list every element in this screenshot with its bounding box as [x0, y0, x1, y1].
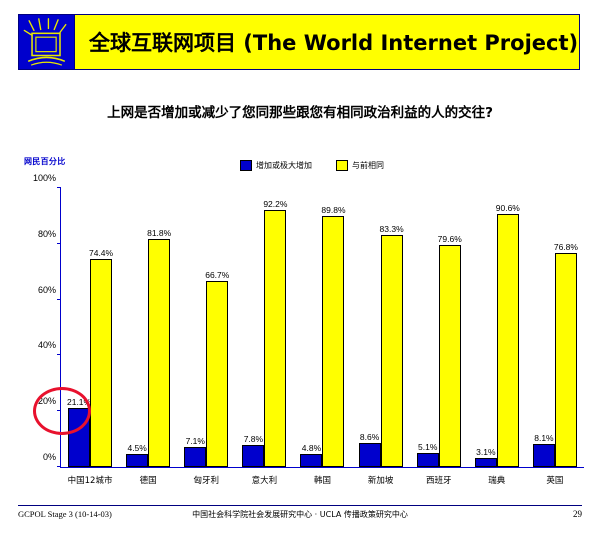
- bar-group: 4.5%81.8%德国: [119, 188, 177, 467]
- y-axis-tick-label: 20%: [38, 396, 61, 406]
- bar-increase[interactable]: 7.8%: [242, 445, 264, 467]
- bar-pair: 4.5%81.8%: [119, 188, 177, 467]
- bar-value-label: 79.6%: [438, 234, 462, 244]
- x-axis-tick-label: 中国12城市: [68, 474, 113, 486]
- y-axis-tick-label: 40%: [38, 340, 61, 350]
- bar-value-label: 89.8%: [321, 205, 345, 215]
- footer-source-left: GCPOL Stage 3 (10-14-03): [18, 509, 112, 519]
- bar-group: 7.1%66.7%匈牙利: [177, 188, 235, 467]
- chart-legend: 增加或极大增加 与前相同: [240, 160, 384, 171]
- bar-value-label: 8.6%: [360, 432, 379, 442]
- slide-header: 全球互联网项目 (The World Internet Project): [18, 14, 580, 70]
- x-axis-tick-label: 意大利: [252, 474, 278, 486]
- bar-increase[interactable]: 5.1%: [417, 453, 439, 467]
- bar-groups: 21.1%74.4%中国12城市4.5%81.8%德国7.1%66.7%匈牙利7…: [61, 188, 584, 467]
- bar-increase[interactable]: 8.6%: [359, 443, 381, 467]
- page-number: 29: [573, 509, 582, 519]
- legend-label-same: 与前相同: [352, 160, 384, 171]
- bar-same[interactable]: 66.7%: [206, 281, 228, 467]
- x-axis-tick-label: 德国: [140, 474, 157, 486]
- plot-area: 21.1%74.4%中国12城市4.5%81.8%德国7.1%66.7%匈牙利7…: [60, 188, 584, 468]
- bar-value-label: 5.1%: [418, 442, 437, 452]
- bar-value-label: 7.8%: [244, 434, 263, 444]
- x-axis-tick-label: 韩国: [314, 474, 331, 486]
- legend-swatch-yellow-icon: [336, 160, 348, 171]
- bar-same[interactable]: 79.6%: [439, 245, 461, 467]
- bar-pair: 21.1%74.4%: [61, 188, 119, 467]
- bar-value-label: 7.1%: [186, 436, 205, 446]
- y-axis-tick-mark: [57, 187, 61, 188]
- bar-pair: 8.1%76.8%: [526, 188, 584, 467]
- bar-value-label: 76.8%: [554, 242, 578, 252]
- x-axis-tick-label: 匈牙利: [194, 474, 220, 486]
- y-axis-tick-mark: [57, 243, 61, 244]
- x-axis-tick-label: 新加坡: [368, 474, 394, 486]
- bar-pair: 5.1%79.6%: [410, 188, 468, 467]
- slide-question: 上网是否增加或减少了您同那些跟您有相同政治利益的人的交往?: [0, 101, 600, 121]
- bar-value-label: 4.5%: [127, 443, 146, 453]
- bar-same[interactable]: 92.2%: [264, 210, 286, 467]
- bar-increase[interactable]: 4.8%: [300, 454, 322, 467]
- bar-group: 8.6%83.3%新加坡: [352, 188, 410, 467]
- footer-divider: [18, 505, 582, 506]
- bar-group: 4.8%89.8%韩国: [293, 188, 351, 467]
- bar-pair: 7.1%66.7%: [177, 188, 235, 467]
- legend-item-increase: 增加或极大增加: [240, 160, 312, 171]
- legend-label-increase: 增加或极大增加: [256, 160, 312, 171]
- bar-same[interactable]: 89.8%: [322, 216, 344, 467]
- legend-item-same: 与前相同: [336, 160, 384, 171]
- bar-value-label: 21.1%: [67, 397, 91, 407]
- y-axis-title: 网民百分比: [24, 156, 66, 167]
- bar-same[interactable]: 81.8%: [148, 239, 170, 467]
- bar-pair: 3.1%90.6%: [468, 188, 526, 467]
- bar-increase[interactable]: 4.5%: [126, 454, 148, 467]
- bar-same[interactable]: 74.4%: [90, 259, 112, 467]
- bar-pair: 7.8%92.2%: [235, 188, 293, 467]
- y-axis-tick-label: 60%: [38, 285, 61, 295]
- page-title: 全球互联网项目 (The World Internet Project): [89, 27, 578, 57]
- y-axis-tick-label: 80%: [38, 229, 61, 239]
- bar-increase[interactable]: 21.1%: [68, 408, 90, 467]
- slide-footer: GCPOL Stage 3 (10-14-03) 中国社会科学院社会发展研究中心…: [18, 509, 582, 519]
- bar-pair: 8.6%83.3%: [352, 188, 410, 467]
- x-axis-tick-label: 西班牙: [426, 474, 452, 486]
- footer-institutions: 中国社会科学院社会发展研究中心 · UCLA 传播政策研究中心: [192, 509, 408, 520]
- bar-same[interactable]: 83.3%: [381, 235, 403, 467]
- bar-value-label: 8.1%: [534, 433, 553, 443]
- bar-increase[interactable]: 3.1%: [475, 458, 497, 467]
- y-axis-tick-label: 0%: [43, 452, 61, 462]
- bar-chart: 网民百分比 增加或极大增加 与前相同 21.1%74.4%中国12城市4.5%8…: [0, 150, 600, 495]
- bar-value-label: 66.7%: [205, 270, 229, 280]
- bar-value-label: 74.4%: [89, 248, 113, 258]
- bar-value-label: 92.2%: [263, 199, 287, 209]
- bar-value-label: 3.1%: [476, 447, 495, 457]
- bar-group: 7.8%92.2%意大利: [235, 188, 293, 467]
- x-axis-tick-label: 英国: [546, 474, 563, 486]
- bar-increase[interactable]: 8.1%: [533, 444, 555, 467]
- y-axis-tick-mark: [57, 299, 61, 300]
- bar-group: 5.1%79.6%西班牙: [410, 188, 468, 467]
- bar-increase[interactable]: 7.1%: [184, 447, 206, 467]
- bar-pair: 4.8%89.8%: [293, 188, 351, 467]
- legend-swatch-blue-icon: [240, 160, 252, 171]
- bar-group: 8.1%76.8%英国: [526, 188, 584, 467]
- y-axis-tick-mark: [57, 466, 61, 467]
- y-axis-tick-mark: [57, 354, 61, 355]
- bar-group: 3.1%90.6%瑞典: [468, 188, 526, 467]
- world-internet-project-monitor-logo: [19, 15, 75, 69]
- bar-group: 21.1%74.4%中国12城市: [61, 188, 119, 467]
- y-axis-tick-label: 100%: [33, 173, 61, 183]
- slide-title-bar: 全球互联网项目 (The World Internet Project): [75, 15, 579, 69]
- bar-same[interactable]: 76.8%: [555, 253, 577, 467]
- x-axis-tick-label: 瑞典: [488, 474, 505, 486]
- bar-value-label: 90.6%: [496, 203, 520, 213]
- y-axis-tick-mark: [57, 410, 61, 411]
- bar-same[interactable]: 90.6%: [497, 214, 519, 467]
- bar-value-label: 81.8%: [147, 228, 171, 238]
- bar-value-label: 4.8%: [302, 443, 321, 453]
- bar-value-label: 83.3%: [380, 224, 404, 234]
